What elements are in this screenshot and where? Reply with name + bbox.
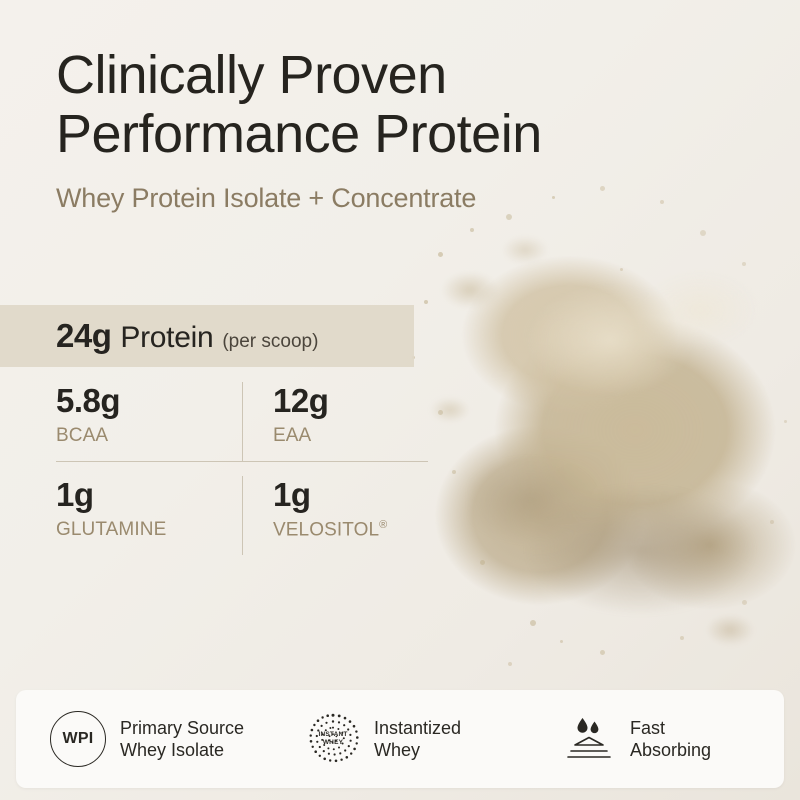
feature-line-1: Instantized [374,718,461,738]
nutrition-spec-grid: 5.8g BCAA 12g EAA 1g GLUTAMINE 1g VELOSI… [56,382,428,555]
powder-speck [742,262,746,266]
spec-value: 1g [56,476,242,514]
powder-speck [620,268,623,271]
spec-row: 5.8g BCAA 12g EAA [56,382,428,461]
spec-value: 1g [273,476,428,514]
powder-speck [506,214,512,220]
spec-value: 5.8g [56,382,242,420]
feature-text: Instantized Whey [374,717,461,762]
powder-speck [424,300,428,304]
absorbing-droplets-icon [562,712,616,766]
powder-speck [438,410,443,415]
powder-mound [420,215,800,655]
powder-speck [530,620,536,626]
wpi-badge-text: WPI [62,730,93,748]
protein-per-serving: (per scoop) [222,331,318,353]
powder-speck [438,252,443,257]
feature-text: Fast Absorbing [630,717,711,762]
registered-mark: ® [379,519,387,531]
spec-cell-eaa: 12g EAA [242,382,428,461]
feature-line-2: Whey Isolate [120,739,244,762]
feature-line-2: Absorbing [630,739,711,762]
powder-speck [600,650,605,655]
feature-instantized-whey: INSTANTWHEY Instantized Whey [272,712,528,766]
powder-speck [700,230,706,236]
powder-speck [508,662,512,666]
powder-speck [452,470,456,474]
headline-line-1: Clinically Proven [56,45,447,105]
spec-value: 12g [273,382,428,420]
instant-whey-burst-icon: INSTANTWHEY [306,712,360,766]
powder-speck [742,600,747,605]
spec-label-text: GLUTAMINE [56,519,166,540]
protein-band-content: 24g Protein (per scoop) [0,317,318,355]
product-infographic: Clinically Proven Performance Protein Wh… [0,0,800,800]
feature-bar: WPI Primary Source Whey Isolate [16,690,784,788]
spec-label: EAA [273,425,428,447]
instant-whey-label: INSTANTWHEY [306,731,360,747]
feature-line-1: Fast [630,718,665,738]
powder-shadow [470,430,800,660]
feature-line-1: Primary Source [120,718,244,738]
powder-speck [560,640,563,643]
spec-label-text: BCAA [56,425,108,446]
powder-speck [470,228,474,232]
spec-row: 1g GLUTAMINE 1g VELOSITOL® [56,462,428,555]
spec-label-text: VELOSITOL [273,519,379,540]
protein-amount: 24g [56,317,111,355]
spec-cell-bcaa: 5.8g BCAA [56,382,242,461]
protein-word: Protein [120,321,213,355]
powder-speck [770,520,774,524]
protein-highlight-band: 24g Protein (per scoop) [0,305,414,367]
headline-block: Clinically Proven Performance Protein Wh… [56,46,676,214]
headline-subtitle: Whey Protein Isolate + Concentrate [56,183,676,214]
feature-text: Primary Source Whey Isolate [120,717,244,762]
wpi-badge-icon: WPI [50,711,106,767]
headline-line-2: Performance Protein [56,104,542,164]
powder-speck [480,560,485,565]
spec-cell-glutamine: 1g GLUTAMINE [56,476,242,555]
powder-edge-scatter [430,230,800,650]
powder-speck [784,420,787,423]
droplet-layers-glyph [562,712,616,766]
feature-fast-absorbing: Fast Absorbing [528,712,784,766]
feature-primary-source: WPI Primary Source Whey Isolate [16,711,272,767]
spec-label: VELOSITOL® [273,519,428,541]
powder-highlight [470,250,770,500]
spec-label: GLUTAMINE [56,519,242,541]
spec-label: BCAA [56,425,242,447]
spec-cell-velositol: 1g VELOSITOL® [242,476,428,555]
feature-line-2: Whey [374,739,461,762]
spec-label-text: EAA [273,425,311,446]
powder-speck [680,636,684,640]
page-title: Clinically Proven Performance Protein [56,46,676,165]
